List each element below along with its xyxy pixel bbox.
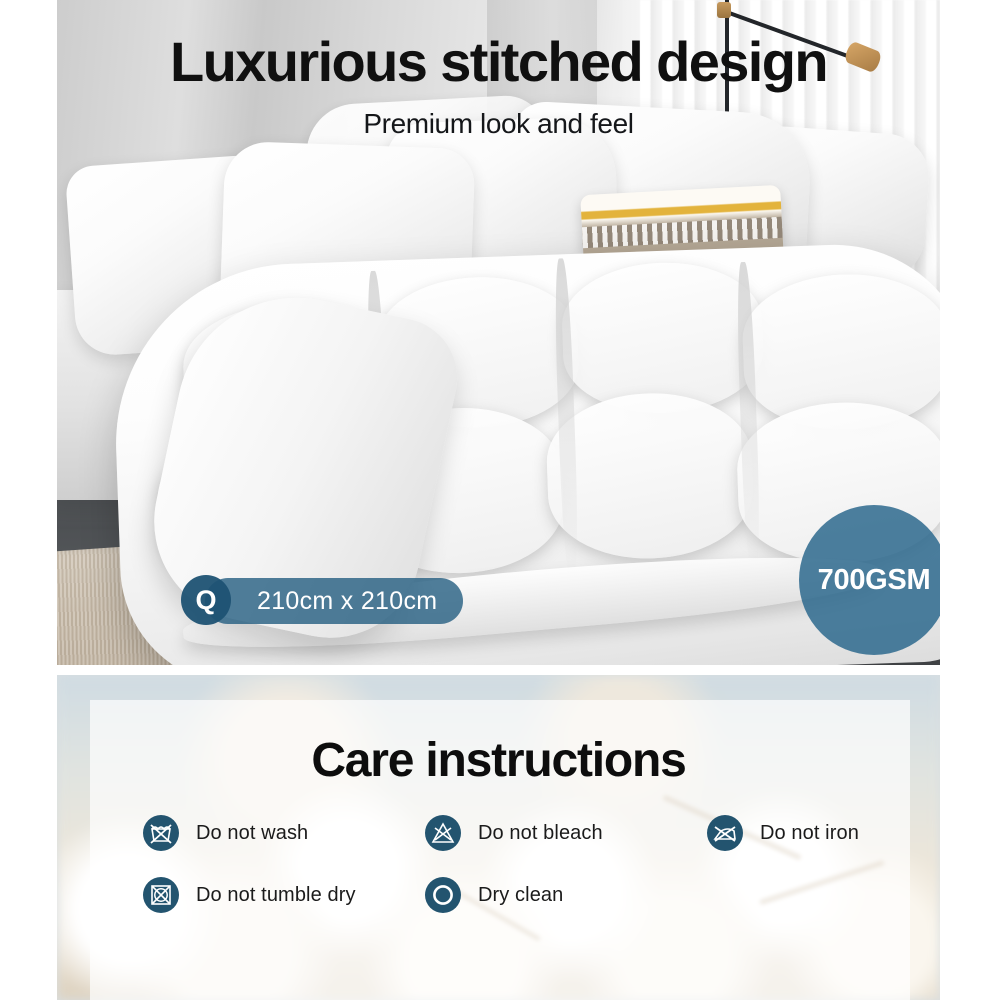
product-marketing-image: Luxurious stitched design Premium look a…: [0, 0, 1000, 1000]
care-row: Do not wash Do not bleach: [143, 815, 903, 851]
dry-clean-icon: [425, 877, 461, 913]
care-instructions-section: Care instructions Do not wash: [57, 675, 940, 1000]
care-item-do-not-wash: Do not wash: [143, 815, 425, 851]
do-not-iron-icon: [707, 815, 743, 851]
care-row: Do not tumble dry Dry clean: [143, 877, 903, 913]
do-not-bleach-icon: [425, 815, 461, 851]
hero-bedroom-section: Luxurious stitched design Premium look a…: [57, 0, 940, 665]
care-item-label: Do not tumble dry: [196, 884, 356, 907]
size-dimensions-label: 210cm x 210cm: [205, 578, 463, 624]
care-item-dry-clean: Dry clean: [425, 877, 707, 913]
page-title: Luxurious stitched design: [57, 34, 940, 90]
care-item-do-not-tumble-dry: Do not tumble dry: [143, 877, 425, 913]
care-item-label: Do not wash: [196, 822, 308, 845]
care-item-do-not-iron: Do not iron: [707, 815, 903, 851]
care-item-label: Do not iron: [760, 822, 859, 845]
do-not-wash-icon: [143, 815, 179, 851]
size-badge: 210cm x 210cm Q: [181, 578, 231, 624]
size-code-badge: Q: [181, 575, 231, 625]
page-subtitle: Premium look and feel: [57, 108, 940, 140]
care-item-do-not-bleach: Do not bleach: [425, 815, 707, 851]
care-icon-grid: Do not wash Do not bleach: [143, 815, 903, 939]
task-lamp-joint: [717, 2, 731, 18]
care-title: Care instructions: [57, 733, 940, 788]
care-item-label: Dry clean: [478, 884, 563, 907]
care-item-label: Do not bleach: [478, 822, 603, 845]
gsm-badge: 700GSM: [799, 505, 940, 655]
do-not-tumble-dry-icon: [143, 877, 179, 913]
